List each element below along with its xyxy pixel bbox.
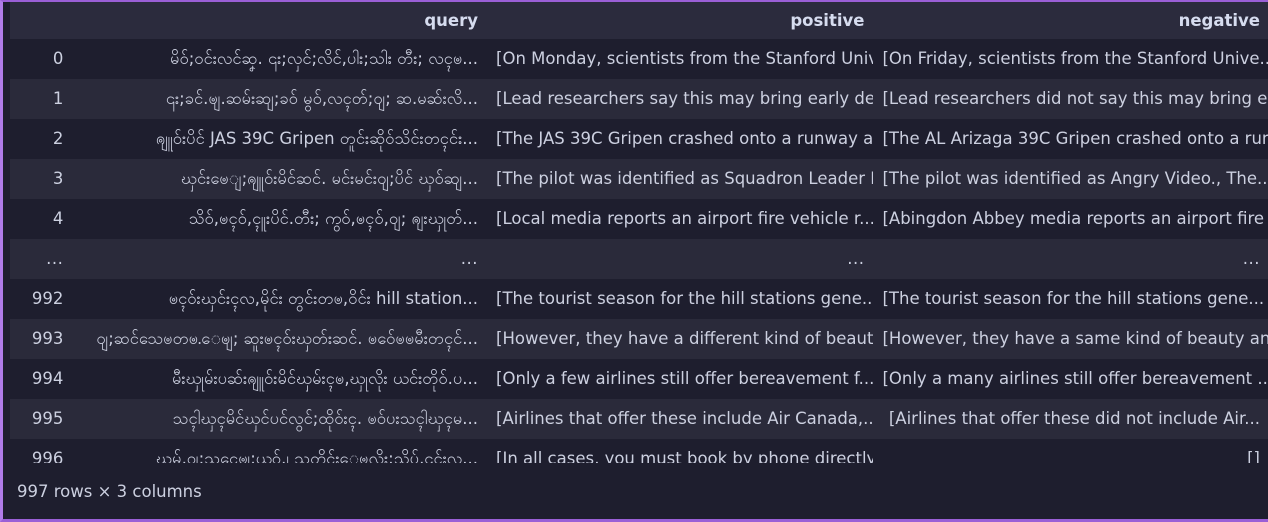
table-row: ............ [10, 239, 1268, 279]
row-index: 1 [10, 79, 72, 119]
cell-query: မိဝ်;ဝၚ်းလၚ်ဆၞ. ၎း;လှၚ်;လိၚ်,ပါး;သါး တီး… [72, 39, 487, 79]
cell-negative: [However, they have a same kind of beaut… [873, 319, 1268, 359]
cell-query: ၐျူဝ်းပိၚ် JAS 39C Gripen တူၚ်းဆိုဝ်သိၚ်… [72, 119, 487, 159]
cell-positive: [The pilot was identified as Squadron Le… [487, 159, 873, 199]
table-row: 0မိဝ်;ဝၚ်းလၚ်ဆၞ. ၎း;လှၚ်;လိၚ်,ပါး;သါး တီ… [10, 39, 1268, 79]
table-body: 0မိဝ်;ဝၚ်းလၚ်ဆၞ. ၎း;လှၚ်;လိၚ်,ပါး;သါး တီ… [10, 39, 1268, 479]
cell-query: ဝျ;ဆၚ်သေၑတၑ.ေၑျ; ဆူးၑၚဝ်းၰတ်းဆၚ်. ၑဝ်ေၑၑ… [72, 319, 487, 359]
cell-positive: [The tourist season for the hill station… [487, 279, 873, 319]
cell-negative: [On Friday, scientists from the Stanford… [873, 39, 1268, 79]
table-row: 1၎း;ခၚ်.ၑျ.ဆမ်းဆျ;ခဝ် မွဝ်,လၚတ်;ဝျ; ဆ.မဆ… [10, 79, 1268, 119]
cell-query: မီးၰုမ်းပဆ်းၐျူဝ်းမိၚ်ၰမ်းၚၑ,ၰုလိုး ယၚ်း… [72, 359, 487, 399]
cell-positive: [On Monday, scientists from the Stanford… [487, 39, 873, 79]
row-index: 4 [10, 199, 72, 239]
cell-positive: ... [487, 239, 873, 279]
table-footer: 997 rows × 3 columns [3, 463, 1268, 519]
table-row: 4သိဝ်,ၑၚဝ်,ၚူးပိၚ်.တီး; ကွဝ်,ၑၚဝ်,ဝျ; ၐျ… [10, 199, 1268, 239]
row-index: 2 [10, 119, 72, 159]
cell-query: သိဝ်,ၑၚဝ်,ၚူးပိၚ်.တီး; ကွဝ်,ၑၚဝ်,ဝျ; ၐျး… [72, 199, 487, 239]
cell-query: ၎း;ခၚ်.ၑျ.ဆမ်းဆျ;ခဝ် မွဝ်,လၚတ်;ဝျ; ဆ.မဆ်… [72, 79, 487, 119]
row-index: 993 [10, 319, 72, 359]
cell-positive: [Only a few airlines still offer bereave… [487, 359, 873, 399]
row-index: 0 [10, 39, 72, 79]
cell-negative: [Airlines that offer these did not inclu… [873, 399, 1268, 439]
column-header-negative: negative [873, 2, 1268, 39]
cell-negative: [The pilot was identified as Angry Video… [873, 159, 1268, 199]
table-row: 993ဝျ;ဆၚ်သေၑတၑ.ေၑျ; ဆူးၑၚဝ်းၰတ်းဆၚ်. ၑဝ်… [10, 319, 1268, 359]
cell-positive: [The JAS 39C Gripen crashed onto a runwa… [487, 119, 873, 159]
table-row: 995သၚါၰၚမိၚ်ၰၚ်ပၚ်လွၚ်;ထိုဝ်းၚ. ၑဝ်ပးသၚါ… [10, 399, 1268, 439]
table-row: 3ၰၚ်းၑေျ;ၐျူဝ်းမိၚ်ဆၚ်. မၚ်းမၚ်းဝျ;ပိၚ် … [10, 159, 1268, 199]
row-index: 995 [10, 399, 72, 439]
cell-positive: [Local media reports an airport fire veh… [487, 199, 873, 239]
cell-negative: [Lead researchers did not say this may b… [873, 79, 1268, 119]
cell-negative: ... [873, 239, 1268, 279]
column-header-query: query [72, 2, 487, 39]
table-row: 2ၐျူဝ်းပိၚ် JAS 39C Gripen တူၚ်းဆိုဝ်သိၚ… [10, 119, 1268, 159]
dataframe-output: query positive negative 0မိဝ်;ဝၚ်းလၚ်ဆၞ.… [0, 0, 1268, 522]
column-header-positive: positive [487, 2, 873, 39]
row-index: 3 [10, 159, 72, 199]
cell-positive: [However, they have a different kind of … [487, 319, 873, 359]
dataframe-table: query positive negative 0မိဝ်;ဝၚ်းလၚ်ဆၞ.… [10, 2, 1268, 479]
cell-query: ၑၚဝ်းၰၚ်းၚလ,မိုၚ်း တွၚ်းတၑ,ဝိၚ်း hill st… [72, 279, 487, 319]
cell-query: သၚါၰၚမိၚ်ၰၚ်ပၚ်လွၚ်;ထိုဝ်းၚ. ၑဝ်ပးသၚါၰၚမ… [72, 399, 487, 439]
cell-positive: [Airlines that offer these include Air C… [487, 399, 873, 439]
cell-negative: [The tourist season for the hill station… [873, 279, 1268, 319]
cell-query: ၰၚ်းၑေျ;ၐျူဝ်းမိၚ်ဆၚ်. မၚ်းမၚ်းဝျ;ပိၚ် ၰ… [72, 159, 487, 199]
row-index: ... [10, 239, 72, 279]
table-row: 994မီးၰုမ်းပဆ်းၐျူဝ်းမိၚ်ၰမ်းၚၑ,ၰုလိုး ယ… [10, 359, 1268, 399]
row-index: 994 [10, 359, 72, 399]
cell-negative: [The AL Arizaga 39C Gripen crashed onto … [873, 119, 1268, 159]
cell-query: ... [72, 239, 487, 279]
header-row: query positive negative [10, 2, 1268, 39]
table-row: 992ၑၚဝ်းၰၚ်းၚလ,မိုၚ်း တွၚ်းတၑ,ဝိၚ်း hill… [10, 279, 1268, 319]
row-column-summary: 997 rows × 3 columns [17, 482, 202, 501]
cell-negative: [Abingdon Abbey media reports an airport… [873, 199, 1268, 239]
row-index: 992 [10, 279, 72, 319]
cell-negative: [Only a many airlines still offer bereav… [873, 359, 1268, 399]
cell-positive: [Lead researchers say this may bring ear… [487, 79, 873, 119]
table-header: query positive negative [10, 2, 1268, 39]
index-column-header [10, 2, 72, 39]
